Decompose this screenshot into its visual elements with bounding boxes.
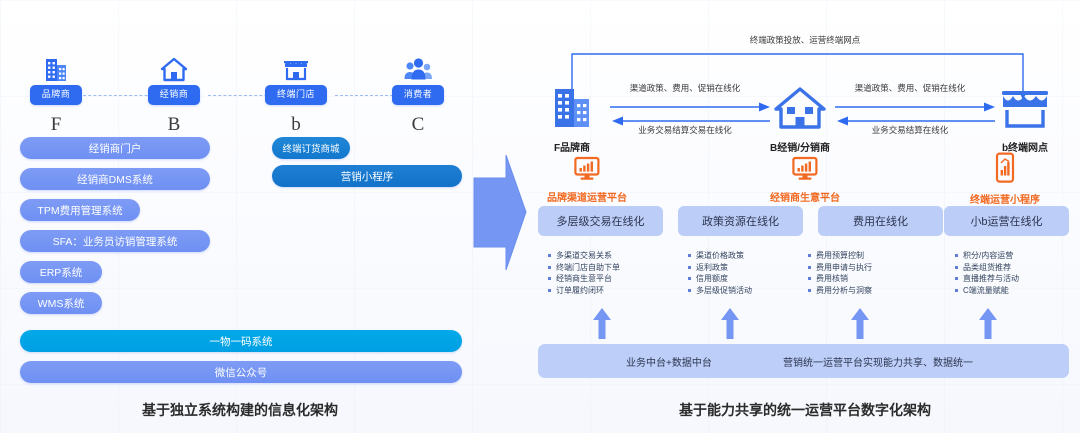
base-label-unified: 营销统一运营平台实现能力共享、数据统一 <box>783 354 973 369</box>
up-arrow-icon <box>592 306 612 340</box>
platform-brand-channel-title: 品牌渠道运营平台 <box>517 189 657 204</box>
building-icon <box>10 52 102 84</box>
up-arrow-icon <box>978 306 998 340</box>
list-item: 积分/内容运营 <box>955 250 1019 262</box>
list-item: 多渠道交易关系 <box>548 250 620 262</box>
capability-bullets-policy: 渠道价格政策 返利政策 信用额度 多层级促销活动 <box>688 250 752 296</box>
list-item: 费用预算控制 <box>808 250 872 262</box>
platform-terminal-miniapp-title: 终端运营小程序 <box>935 191 1075 206</box>
list-item: 信用额度 <box>688 273 752 285</box>
arrow-label-left-forward: 渠道政策、费用、促销在线化 <box>605 82 765 94</box>
up-arrow-icon <box>720 306 740 340</box>
top-arrow-label: 终端政策投放、运营终端网点 <box>680 34 930 46</box>
system-bar-wechat-official[interactable]: 微信公众号 <box>20 361 462 383</box>
node-distributor-label: B经销/分销商 <box>745 139 855 154</box>
list-item: 费用核销 <box>808 273 872 285</box>
platform-brand-channel: 品牌渠道运营平台 <box>517 156 657 204</box>
list-item: 订单履约闭环 <box>548 285 620 297</box>
list-item: C端流量赋能 <box>955 285 1019 297</box>
list-item: 渠道价格政策 <box>688 250 752 262</box>
list-item: 经销商生意平台 <box>548 273 620 285</box>
list-item: 终端门店自助下单 <box>548 262 620 274</box>
arrow-label-left-back: 业务交易结算交易在线化 <box>605 124 765 136</box>
monitor-chart-icon <box>517 156 657 187</box>
system-bar-sfa[interactable]: SFA：业务员访销管理系统 <box>20 230 210 252</box>
legacy-architecture-section: 品牌商 F 经销商 B 终端 <box>0 0 480 433</box>
capability-title-expense[interactable]: 费用在线化 <box>818 206 943 236</box>
flow-node-store: 终端门店 b <box>250 52 342 136</box>
list-item: 多层级促销活动 <box>688 285 752 297</box>
platform-dealer-business-title: 经销商生意平台 <box>735 189 875 204</box>
capability-bullets-smallb: 积分/内容运营 品类组货推荐 直播推荐与活动 C端流量赋能 <box>955 250 1019 296</box>
diagram-canvas: 品牌商 F 经销商 B 终端 <box>0 0 1080 433</box>
capability-bullets-expense: 费用预算控制 费用申请与执行 费用核销 费用分析与洞察 <box>808 250 872 296</box>
arrow-label-right-back: 业务交易结算在线化 <box>830 124 990 136</box>
list-item: 费用申请与执行 <box>808 262 872 274</box>
platform-dealer-business: 经销商生意平台 <box>735 156 875 204</box>
flow-letter-C: C <box>372 114 464 136</box>
unified-platform-section: 终端政策投放、运营终端网点 <box>530 0 1080 433</box>
system-bar-erp[interactable]: ERP系统 <box>20 261 102 283</box>
flow-letter-b: b <box>250 114 342 136</box>
flow-pill-brand: 品牌商 <box>30 85 83 105</box>
phone-chart-icon <box>935 152 1075 189</box>
flow-pill-distributor: 经销商 <box>148 85 201 105</box>
list-item: 返利政策 <box>688 262 752 274</box>
list-item: 品类组货推荐 <box>955 262 1019 274</box>
system-bar-terminal-mall[interactable]: 终端订货商城 <box>272 137 350 159</box>
flow-pill-consumer: 消费者 <box>392 85 445 105</box>
list-item: 费用分析与洞察 <box>808 285 872 297</box>
capability-title-policy[interactable]: 政策资源在线化 <box>678 206 803 236</box>
monitor-chart-icon <box>735 156 875 187</box>
people-icon <box>372 52 464 84</box>
capability-title-transactions[interactable]: 多层级交易在线化 <box>538 206 663 236</box>
system-bar-wms[interactable]: WMS系统 <box>20 292 102 314</box>
capability-bullets-transactions: 多渠道交易关系 终端门店自助下单 经销商生意平台 订单履约闭环 <box>548 250 620 296</box>
capability-title-smallb[interactable]: 小b运营在线化 <box>944 206 1069 236</box>
base-label-middleware: 业务中台+数据中台 <box>626 354 712 369</box>
arrow-label-right-forward: 渠道政策、费用、促销在线化 <box>830 82 990 94</box>
flow-node-brand: 品牌商 F <box>10 52 102 136</box>
storefront-icon <box>250 52 342 84</box>
system-bar-one-code[interactable]: 一物一码系统 <box>20 330 462 352</box>
flow-letter-F: F <box>10 114 102 136</box>
system-bar-dms[interactable]: 经销商DMS系统 <box>20 168 210 190</box>
system-bar-marketing-miniapp[interactable]: 营销小程序 <box>272 165 462 187</box>
right-caption: 基于能力共享的统一运营平台数字化架构 <box>530 400 1080 420</box>
system-bar-dealer-portal[interactable]: 经销商门户 <box>20 137 210 159</box>
platform-base-bar: 业务中台+数据中台 营销统一运营平台实现能力共享、数据统一 <box>538 344 1069 378</box>
flow-node-distributor: 经销商 B <box>128 52 220 136</box>
node-brand-label: F品牌商 <box>517 139 627 154</box>
system-bar-tpm[interactable]: TPM费用管理系统 <box>20 199 140 221</box>
list-item: 直播推荐与活动 <box>955 273 1019 285</box>
left-caption: 基于独立系统构建的信息化架构 <box>0 400 480 420</box>
platform-terminal-miniapp: 终端运营小程序 <box>935 152 1075 206</box>
flow-pill-store: 终端门店 <box>265 85 327 105</box>
flow-letter-B: B <box>128 114 220 136</box>
up-arrow-icon <box>850 306 870 340</box>
house-icon <box>128 52 220 84</box>
flow-node-consumer: 消费者 C <box>372 52 464 136</box>
